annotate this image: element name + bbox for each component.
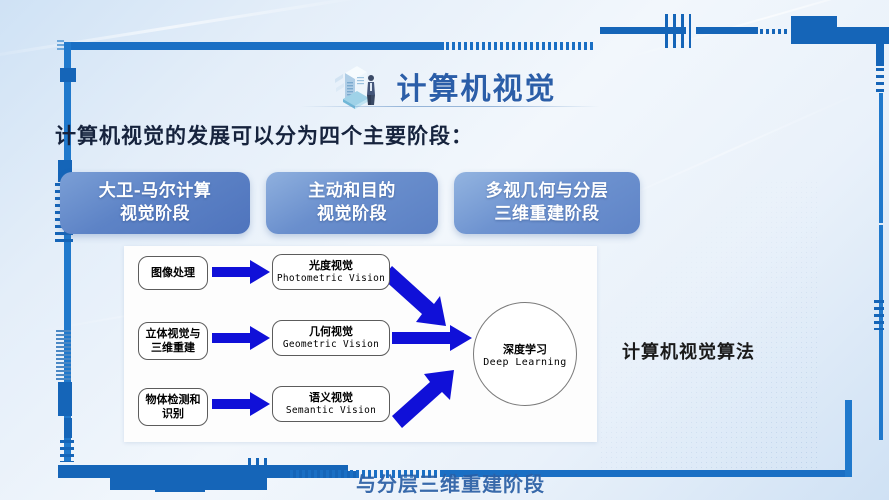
server-tower-icon xyxy=(333,61,381,111)
geometric-en-label: Geometric Vision xyxy=(283,339,379,351)
stage-pill-group: 大卫-马尔计算 视觉阶段 主动和目的 视觉阶段 多视几何与分层 三维重建阶段 xyxy=(60,172,660,234)
frame-right-tick-pattern-lower xyxy=(874,300,884,330)
arrow-mid2-to-deeplearning xyxy=(392,325,472,351)
geometric-cn-label: 几何视觉 xyxy=(309,325,353,339)
diagram-vision-node-geometric[interactable]: 几何视觉 Geometric Vision xyxy=(272,320,390,356)
diagram-vision-node-photometric[interactable]: 光度视觉 Photometric Vision xyxy=(272,254,390,290)
slide-canvas: 计算机视觉 计算机视觉的发展可以分为四个主要阶段： 大卫-马尔计算 视觉阶段 主… xyxy=(0,0,889,500)
arrow-input2-to-mid2 xyxy=(212,326,270,350)
light-streak-icon xyxy=(0,0,378,62)
frame-top-right-dots xyxy=(760,29,790,34)
title-underline xyxy=(300,106,600,107)
input-node-3-line1: 物体检测和 xyxy=(146,393,201,407)
stage-pill-1-line1: 大卫-马尔计算 xyxy=(99,180,212,203)
frame-top-left-nub xyxy=(57,40,64,52)
diagram-input-node-3[interactable]: 物体检测和 识别 xyxy=(138,388,208,426)
diagram-input-node-1[interactable]: 图像处理 xyxy=(138,256,208,290)
photometric-cn-label: 光度视觉 xyxy=(309,259,353,273)
arrow-input1-to-mid1 xyxy=(212,260,270,284)
input-node-2-line2: 三维重建 xyxy=(151,341,195,355)
arrow-input3-to-mid3 xyxy=(212,392,270,416)
input-node-2-line1: 立体视觉与 xyxy=(146,327,201,341)
photometric-en-label: Photometric Vision xyxy=(277,273,385,285)
frame-top-right-line-2 xyxy=(696,27,758,34)
arrow-mid3-to-deeplearning xyxy=(392,370,454,428)
frame-left-block-2 xyxy=(58,382,72,416)
stage-pill-1[interactable]: 大卫-马尔计算 视觉阶段 xyxy=(60,172,250,234)
algorithm-label: 计算机视觉算法 xyxy=(622,338,755,364)
frame-bottom-left-block-3 xyxy=(155,478,205,492)
frame-bottom-left-ticks xyxy=(60,440,74,462)
frame-top-right-block-3 xyxy=(836,27,889,44)
frame-left-stripes-2 xyxy=(56,330,71,380)
frame-bottom-left-vertical xyxy=(64,418,72,438)
arrow-mid1-to-deeplearning xyxy=(382,266,446,326)
slide-header: 计算机视觉 xyxy=(0,56,889,116)
stage-pill-2-line1: 主动和目的 xyxy=(308,180,396,203)
diagram-deep-learning-node[interactable]: 深度学习 Deep Learning xyxy=(473,302,577,406)
stage-pill-3-line1: 多视几何与分层 xyxy=(486,180,609,203)
semantic-en-label: Semantic Vision xyxy=(286,405,376,417)
stage-pill-3[interactable]: 多视几何与分层 三维重建阶段 xyxy=(454,172,640,234)
stage-pill-2-line2: 视觉阶段 xyxy=(317,203,387,226)
stage-pill-2[interactable]: 主动和目的 视觉阶段 xyxy=(266,172,438,234)
deep-learning-cn-label: 深度学习 xyxy=(503,341,547,357)
stage-pill-1-line2: 视觉阶段 xyxy=(120,203,190,226)
frame-top-right-comb xyxy=(665,14,691,48)
frame-bottom-right-vertical-bar xyxy=(845,400,852,477)
deep-learning-en-label: Deep Learning xyxy=(483,357,566,368)
frame-bottom-left-comb xyxy=(248,458,272,490)
cv-pipeline-diagram: 图像处理 立体视觉与 三维重建 物体检测和 识别 光度视觉 Photometri… xyxy=(124,246,597,442)
stage-pill-3-line2: 三维重建阶段 xyxy=(495,203,600,226)
frame-top-tick-pattern xyxy=(446,42,596,50)
diagram-input-node-2[interactable]: 立体视觉与 三维重建 xyxy=(138,322,208,360)
footer-overlay-text: 与分层三维重建阶段 xyxy=(356,468,545,497)
input-node-3-line2: 识别 xyxy=(162,407,184,421)
frame-right-vertical-line-lower xyxy=(879,225,883,440)
semantic-cn-label: 语义视觉 xyxy=(309,391,353,405)
subtitle-text: 计算机视觉的发展可以分为四个主要阶段： xyxy=(55,120,473,150)
page-title: 计算机视觉 xyxy=(397,64,557,108)
diagram-vision-node-semantic[interactable]: 语义视觉 Semantic Vision xyxy=(272,386,390,422)
frame-top-left-horizontal-bar xyxy=(64,42,444,50)
input-node-1-line1: 图像处理 xyxy=(151,266,195,280)
